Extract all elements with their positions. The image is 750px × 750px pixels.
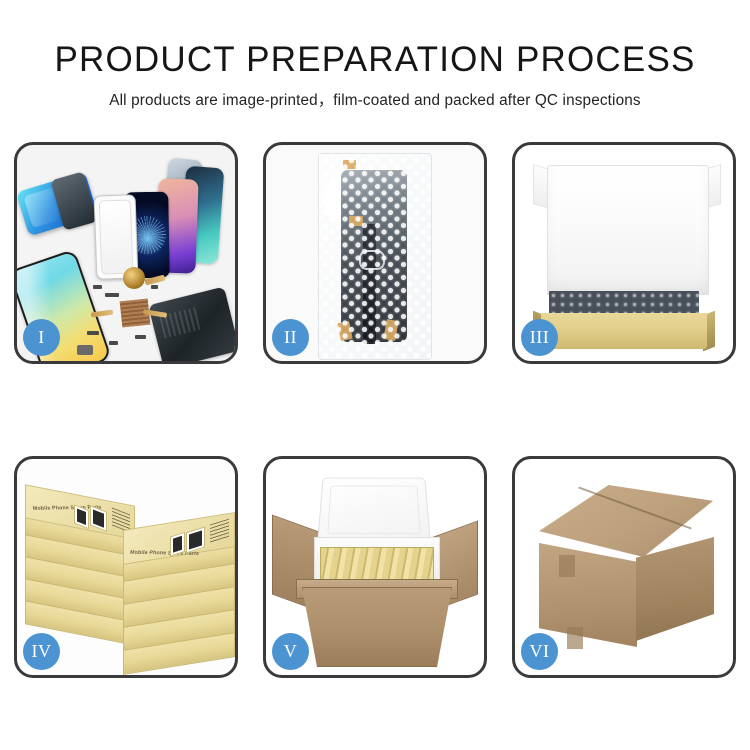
small-part-a bbox=[93, 285, 102, 289]
process-step-panel-4[interactable]: Mobile Phone Spare Parts Mobile Phone Sp… bbox=[14, 456, 238, 678]
foam-lid-group bbox=[547, 165, 707, 293]
step-badge-4: IV bbox=[23, 633, 60, 670]
small-part-e bbox=[135, 335, 146, 339]
small-part-c bbox=[87, 331, 99, 335]
box-label-thumb-d bbox=[186, 526, 205, 553]
box-label-specs-right bbox=[210, 519, 229, 544]
battery-part bbox=[77, 345, 93, 355]
page-title: PRODUCT PREPARATION PROCESS bbox=[0, 0, 750, 79]
step-badge-2: II bbox=[272, 319, 309, 356]
small-part-f bbox=[151, 285, 158, 289]
process-step-grid: I II bbox=[14, 142, 736, 678]
phone-rear-housing bbox=[148, 287, 235, 361]
step-badge-1: I bbox=[23, 319, 60, 356]
box-label-thumb-b bbox=[90, 505, 107, 532]
step-badge-3: III bbox=[521, 319, 558, 356]
process-step-panel-3[interactable]: III bbox=[512, 142, 736, 364]
page-header: PRODUCT PREPARATION PROCESS All products… bbox=[0, 0, 750, 130]
white-foam-sheet bbox=[547, 165, 709, 295]
carton-body bbox=[302, 587, 452, 667]
foam-cooler-lid bbox=[317, 478, 431, 544]
process-step-panel-5[interactable]: V bbox=[263, 456, 487, 678]
speaker-component bbox=[123, 267, 145, 289]
process-step-panel-2[interactable]: II bbox=[263, 142, 487, 364]
step-badge-6: VI bbox=[521, 633, 558, 670]
carton-tape-upper bbox=[559, 555, 575, 577]
small-part-b bbox=[105, 293, 119, 297]
process-step-panel-1[interactable]: I bbox=[14, 142, 238, 364]
bubble-texture-layer-2 bbox=[319, 154, 431, 359]
carton-front-face bbox=[539, 543, 637, 647]
kraft-box-tray bbox=[541, 313, 707, 349]
process-step-panel-6[interactable]: VI bbox=[512, 456, 736, 678]
small-part-d bbox=[109, 341, 118, 345]
bubble-wrap-bag bbox=[318, 153, 432, 360]
step-badge-5: V bbox=[272, 633, 309, 670]
foam-inner-surface bbox=[560, 178, 696, 270]
page-subtitle: All products are image-printed，film-coat… bbox=[0, 79, 750, 110]
carton-tape-lower bbox=[567, 627, 583, 649]
